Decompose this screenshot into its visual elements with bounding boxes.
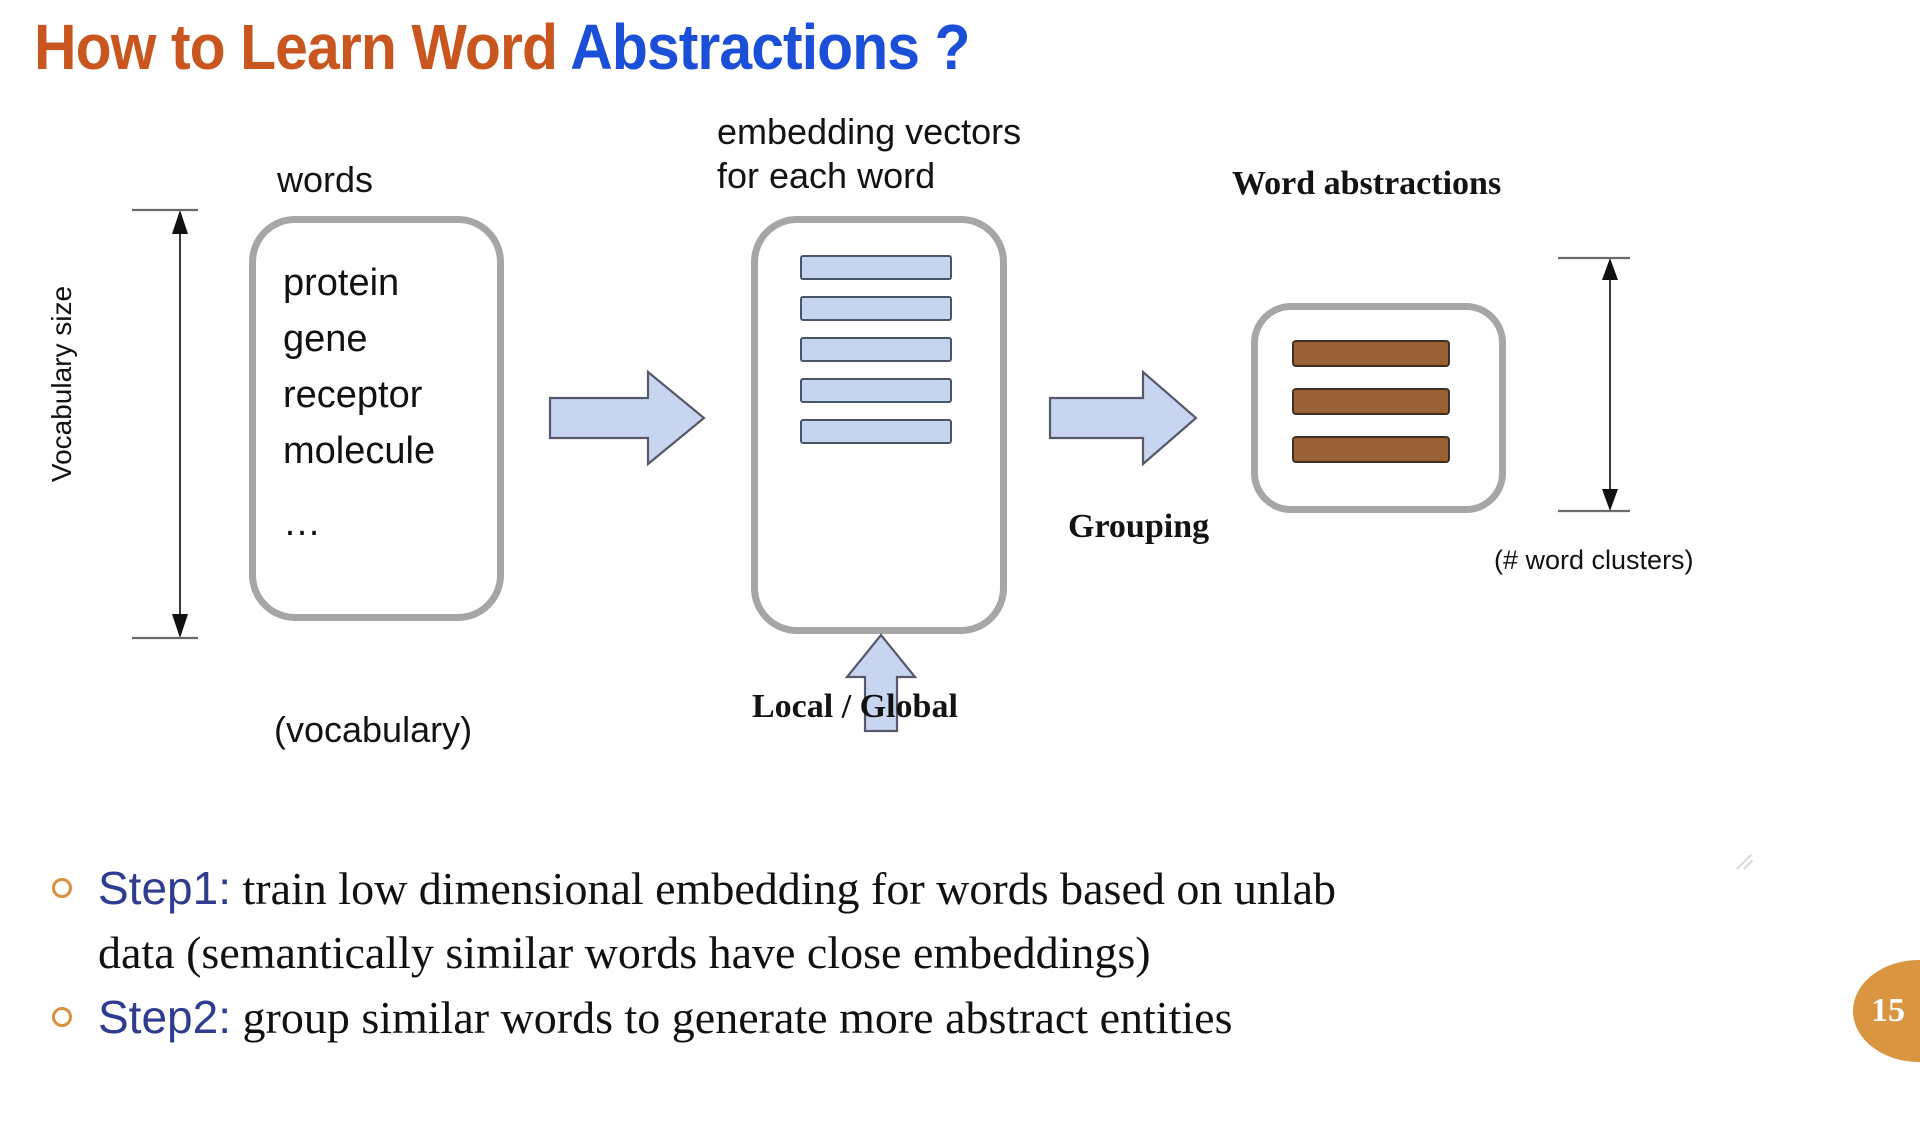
embedding-bar: [800, 296, 952, 321]
page-number: 15: [1871, 992, 1905, 1030]
arrow-right-1: [548, 370, 706, 490]
vocabulary-ellipsis: …: [283, 495, 435, 551]
vocabulary-word: gene: [283, 318, 368, 360]
list-item: Step1: train low dimensional embedding f…: [0, 856, 1920, 985]
vocabulary-word-list: protein gene receptor molecule …: [283, 255, 435, 551]
step-label: Step2:: [98, 991, 231, 1043]
embedding-vectors-label: embedding vectors for each word: [717, 110, 1021, 198]
local-global-label: Local / Global: [752, 685, 958, 729]
embedding-bar: [800, 419, 952, 444]
bullet-marker-icon: [52, 878, 72, 898]
list-item: Step2: group similar words to generate m…: [0, 985, 1920, 1050]
embedding-bar: [800, 337, 952, 362]
words-label: words: [277, 158, 373, 202]
word-clusters-caption: (# word clusters): [1494, 538, 1694, 582]
step-text: train low dimensional embedding for word…: [231, 863, 1336, 914]
abstraction-bar: [1292, 388, 1450, 415]
vocabulary-word: receptor: [283, 374, 422, 416]
cluster-count-measure: [1558, 252, 1634, 517]
step-text: group similar words to generate more abs…: [231, 992, 1232, 1043]
bullet-list: Step1: train low dimensional embedding f…: [0, 856, 1920, 1050]
step-continuation: data (semantically similar words have cl…: [98, 921, 1920, 985]
page-title-part-a: How to Learn Word: [34, 11, 570, 83]
abstraction-bar: [1292, 436, 1450, 463]
step-label: Step1:: [98, 862, 231, 914]
page-title: How to Learn Word Abstractions ?: [34, 6, 970, 88]
abstraction-bar: [1292, 340, 1450, 367]
vocabulary-caption: (vocabulary): [274, 708, 472, 752]
arrow-right-2: [1048, 370, 1198, 490]
page-title-part-b: Abstractions ?: [570, 11, 969, 83]
pipeline-diagram: Vocabulary size words protein gene recep…: [0, 100, 1920, 790]
vocabulary-size-label: Vocabulary size: [46, 264, 78, 504]
bullet-marker-icon: [52, 1007, 72, 1027]
embedding-bar: [800, 255, 952, 280]
vocabulary-word: molecule: [283, 430, 435, 472]
vocabulary-size-measure: [132, 204, 202, 644]
embedding-bar: [800, 378, 952, 403]
grouping-label: Grouping: [1068, 505, 1209, 549]
vocabulary-word: protein: [283, 262, 399, 304]
word-abstractions-label: Word abstractions: [1232, 162, 1501, 206]
